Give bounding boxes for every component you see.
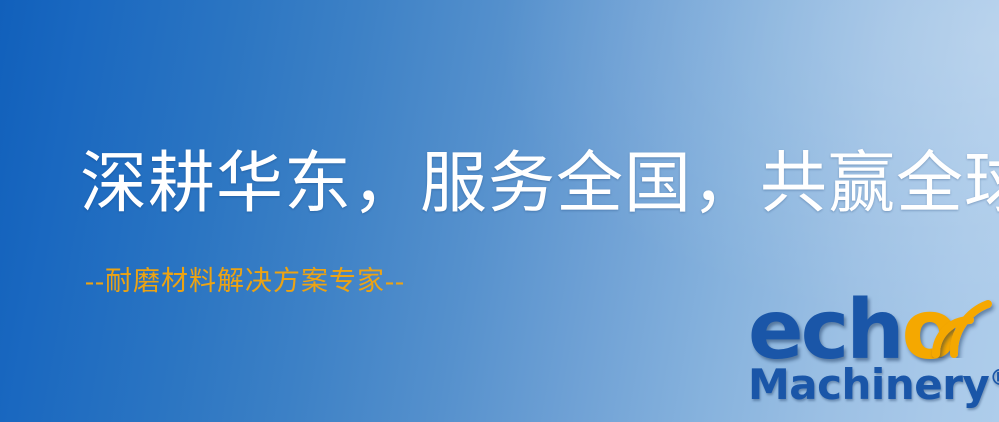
echo-machinery-logo[interactable]: echo Machinery® — [748, 296, 999, 422]
registered-trademark-icon: ® — [989, 366, 999, 391]
wifi-signal-arcs-icon — [928, 294, 999, 358]
banner-subtitle: --耐磨材料解决方案专家-- — [85, 268, 405, 295]
hero-banner: 深耕华东，服务全国，共赢全球 --耐磨材料解决方案专家-- echo Machi… — [0, 0, 999, 422]
logo-company-name: Machinery® — [748, 364, 999, 406]
logo-company-text: Machinery — [748, 360, 989, 409]
banner-headline: 深耕华东，服务全国，共赢全球 — [80, 151, 999, 218]
